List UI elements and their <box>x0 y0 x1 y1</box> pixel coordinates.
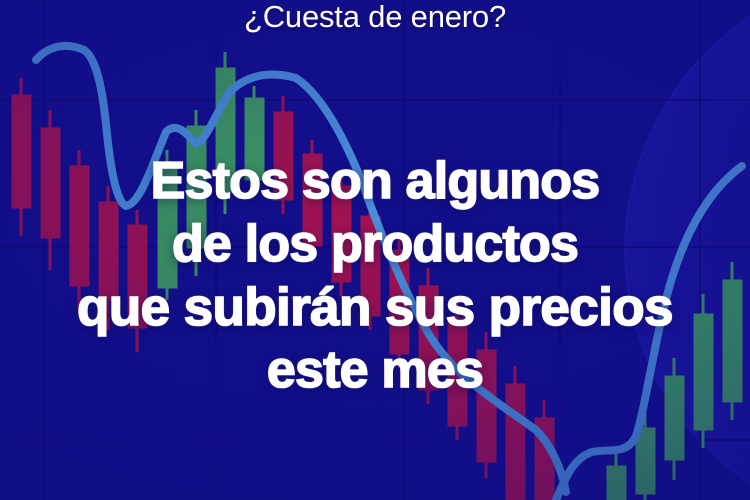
candlestick-chart <box>0 0 750 500</box>
poster-canvas: ¿Cuesta de enero? Estos son algunos de l… <box>0 0 750 500</box>
